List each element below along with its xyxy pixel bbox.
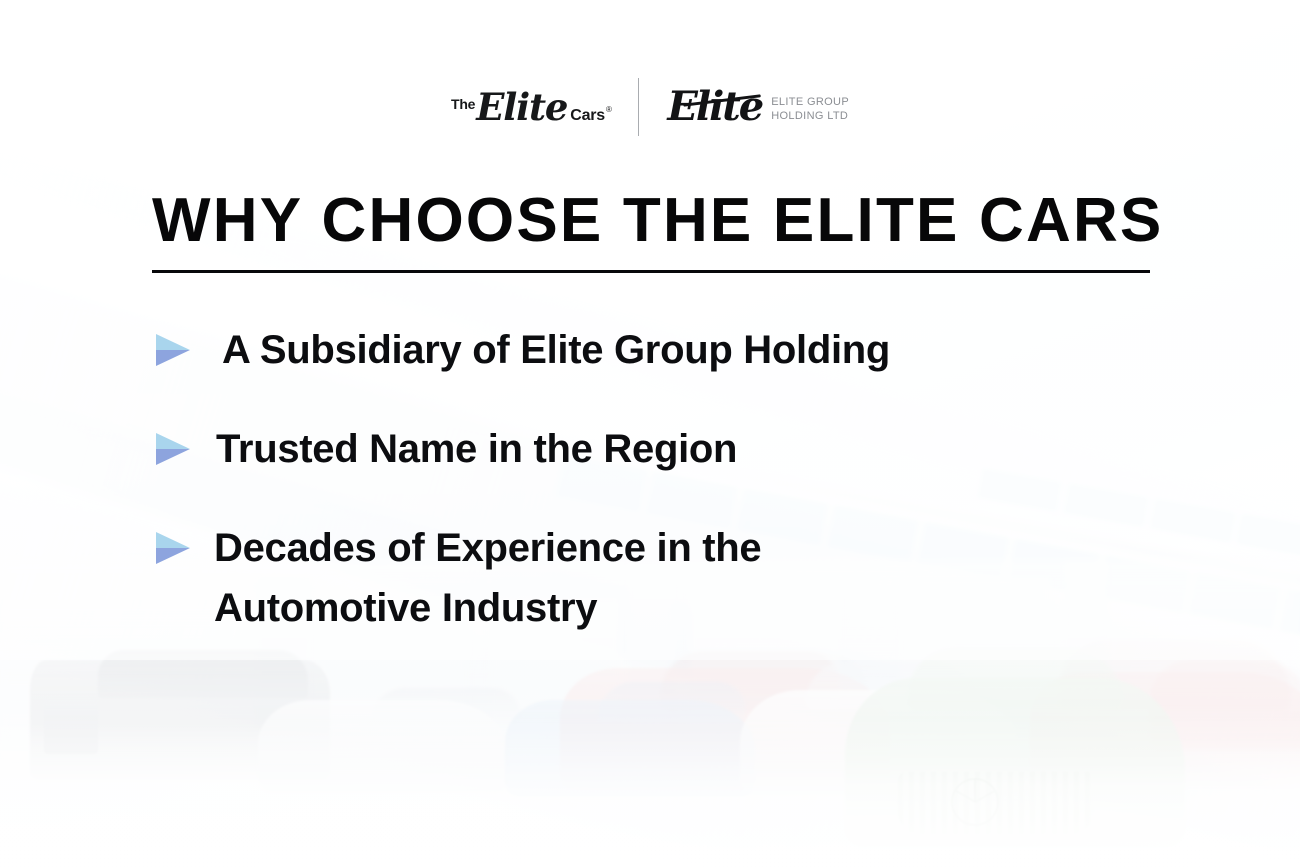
elite-group-subtitle: ELITE GROUP HOLDING LTD [771,95,849,123]
logo-the-text: The [451,96,475,112]
arrow-triangle-icon [152,429,196,469]
page-title: WHY CHOOSE THE ELITE CARS [152,188,1152,253]
list-item: Trusted Name in the Region [152,419,1212,480]
elite-group-script-text: Elite [667,87,762,127]
elite-group-line1: ELITE GROUP [771,96,849,108]
logo-divider [638,78,640,136]
slide-content: The Elite Cars ® Elite ELITE GROUP HOLDI… [0,0,1300,867]
elite-group-holding-logo: Elite ELITE GROUP HOLDING LTD [639,87,849,127]
list-item: Decades of Experience in the Automotive … [152,518,1212,640]
registered-trademark-icon: ® [606,105,612,114]
logo-row: The Elite Cars ® Elite ELITE GROUP HOLDI… [0,74,1300,140]
arrow-triangle-icon [152,528,196,568]
list-item-label: Decades of Experience in the Automotive … [214,518,954,640]
benefits-list: A Subsidiary of Elite Group Holding Trus… [152,320,1212,639]
logo-cars-text: Cars [570,107,605,125]
list-item: A Subsidiary of Elite Group Holding [152,320,1212,381]
title-underline-rule [152,270,1150,273]
list-item-label: A Subsidiary of Elite Group Holding [222,320,890,381]
arrow-triangle-icon [152,330,196,370]
elite-group-line2: HOLDING LTD [771,110,848,122]
list-item-label: Trusted Name in the Region [216,419,737,480]
the-elite-cars-logo: The Elite Cars ® [451,89,638,126]
slide-canvas: The Elite Cars ® Elite ELITE GROUP HOLDI… [0,0,1300,867]
logo-elite-script-text: Elite [476,89,567,126]
